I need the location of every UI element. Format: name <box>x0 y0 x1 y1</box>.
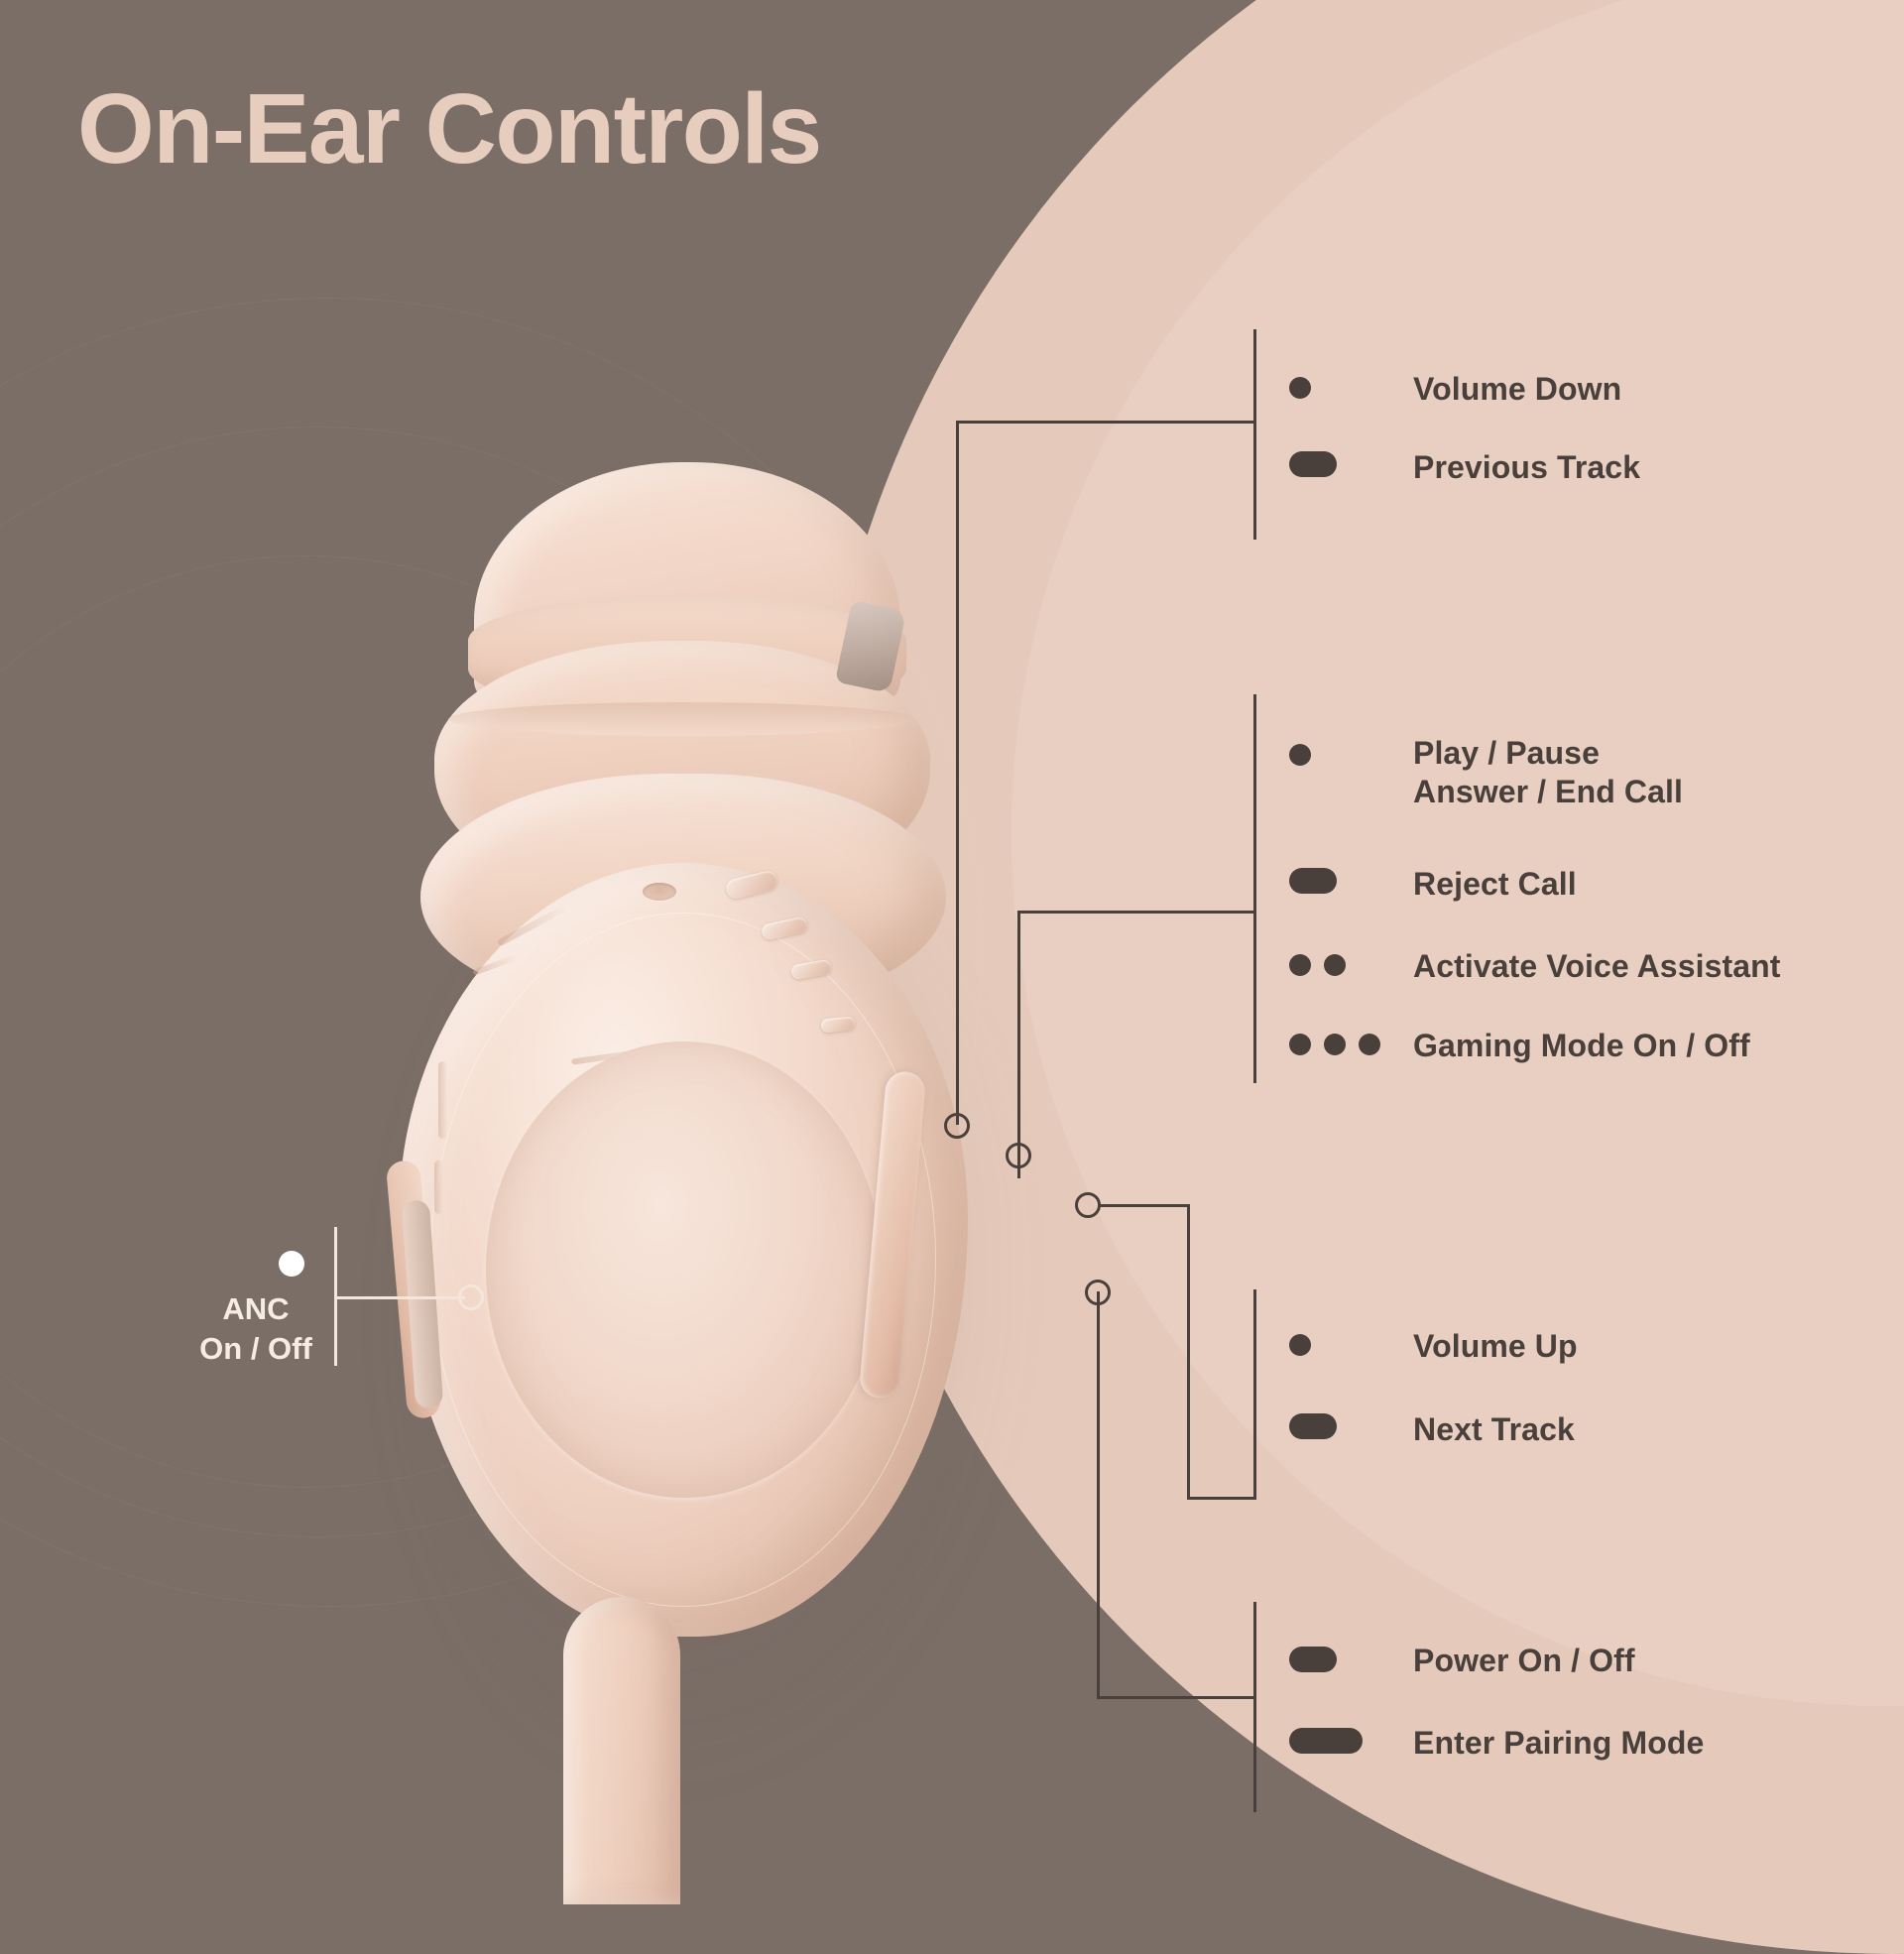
double-press-dot-icon <box>1324 954 1346 976</box>
glyph-group-volume-up <box>1289 1334 1311 1356</box>
long-press-pill-icon <box>1289 451 1337 477</box>
glyph-group-pairing <box>1289 1728 1363 1754</box>
extra-long-press-pill-icon <box>1289 1728 1363 1754</box>
callout-label-voice-assistant: Activate Voice Assistant <box>1413 947 1781 986</box>
single-press-dot-icon <box>1289 744 1311 766</box>
callout-label-volume-down: Volume Down <box>1413 370 1621 409</box>
leader-line-vertical-volume-down <box>956 421 959 1125</box>
headphone-illustration <box>377 446 1071 1904</box>
callout-label-volume-up: Volume Up <box>1413 1327 1578 1366</box>
single-press-dot-icon <box>1289 377 1311 399</box>
ear-cushion <box>486 1041 883 1498</box>
triple-press-dot-icon <box>1359 1034 1380 1055</box>
single-press-dot-icon <box>1289 1334 1311 1356</box>
glyph-group-power <box>1289 1647 1337 1672</box>
leader-line-horizontal-power <box>1097 1696 1255 1699</box>
callout-label-gaming-mode: Gaming Mode On / Off <box>1413 1027 1750 1065</box>
callout-label-play-pause: Play / Pause Answer / End Call <box>1413 734 1683 811</box>
single-press-dot-icon-anc <box>279 1251 304 1277</box>
leader-line-horizontal-playback <box>1017 911 1256 914</box>
glyph-group-gaming-mode <box>1289 1034 1380 1055</box>
infographic-canvas: On-Ear Controls Volume Down Previous Tra… <box>0 0 1904 1904</box>
headphone-stalk <box>563 1597 680 1904</box>
leader-line-vertical-power <box>1097 1291 1100 1698</box>
callout-label-next-track: Next Track <box>1413 1410 1575 1449</box>
glyph-group-reject-call <box>1289 868 1337 894</box>
headband-seam <box>448 702 914 736</box>
leader-node-anc <box>458 1284 484 1310</box>
leader-line-vertical-playback <box>1017 911 1020 1178</box>
callout-label-power: Power On / Off <box>1413 1642 1635 1680</box>
long-press-pill-icon <box>1289 868 1337 894</box>
callout-label-anc: ANC On / Off <box>159 1289 353 1370</box>
long-press-pill-icon <box>1289 1413 1337 1439</box>
leader-node-volume-down <box>944 1113 970 1139</box>
callout-label-previous-track: Previous Track <box>1413 448 1640 487</box>
leader-node-volume-up <box>1075 1192 1101 1218</box>
earcup-vent <box>434 1160 443 1214</box>
leader-line-horizontal-volume-up-bottom <box>1187 1497 1256 1500</box>
earcup-vent <box>438 1061 447 1139</box>
leader-node-playback <box>1006 1143 1031 1168</box>
callout-label-reject-call: Reject Call <box>1413 865 1577 904</box>
glyph-group-previous-track <box>1289 451 1337 477</box>
glyph-group-play-pause <box>1289 744 1311 766</box>
leader-line-horizontal-volume-down <box>956 421 1256 424</box>
triple-press-dot-icon <box>1324 1034 1346 1055</box>
glyph-group-next-track <box>1289 1413 1337 1439</box>
leader-line-horizontal-anc <box>337 1296 465 1299</box>
leader-line-vertical-volume-up <box>1187 1204 1190 1500</box>
glyph-group-volume-down <box>1289 377 1311 399</box>
leader-line-horizontal-volume-up-top <box>1099 1204 1190 1207</box>
microphone-port <box>643 883 676 901</box>
long-press-pill-icon <box>1289 1647 1337 1672</box>
page-title: On-Ear Controls <box>77 77 821 181</box>
double-press-dot-icon <box>1289 954 1311 976</box>
triple-press-dot-icon <box>1289 1034 1311 1055</box>
leader-node-power <box>1085 1280 1111 1305</box>
callout-label-pairing: Enter Pairing Mode <box>1413 1724 1704 1763</box>
glyph-group-voice-assistant <box>1289 954 1346 976</box>
